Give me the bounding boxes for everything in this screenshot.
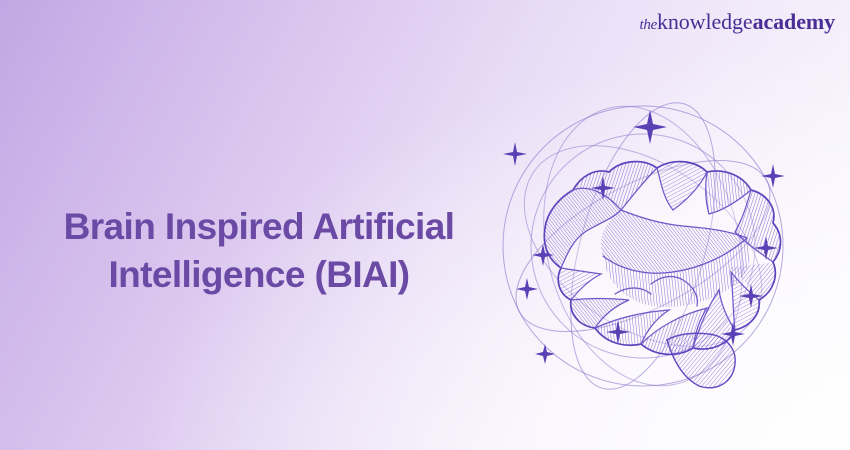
logo-word-knowledge: knowledge (657, 9, 753, 34)
page-title: Brain Inspired Artificial Intelligence (… (26, 203, 492, 299)
brain-network-illustration (455, 48, 825, 418)
brand-logo[interactable]: theknowledgeacademy (640, 11, 835, 33)
page-title-line-2: Intelligence (BIAI) (26, 251, 492, 299)
logo-word-the: the (640, 17, 657, 33)
star-node (503, 142, 527, 166)
promo-banner: theknowledgeacademy Brain Inspired Artif… (0, 0, 850, 450)
brain-figure (525, 148, 795, 378)
brain-stem (667, 333, 735, 387)
logo-word-academy: academy (753, 9, 835, 34)
star-node (633, 110, 667, 144)
page-title-line-1: Brain Inspired Artificial (26, 203, 492, 251)
star-node (535, 344, 555, 364)
star-node (761, 164, 785, 188)
